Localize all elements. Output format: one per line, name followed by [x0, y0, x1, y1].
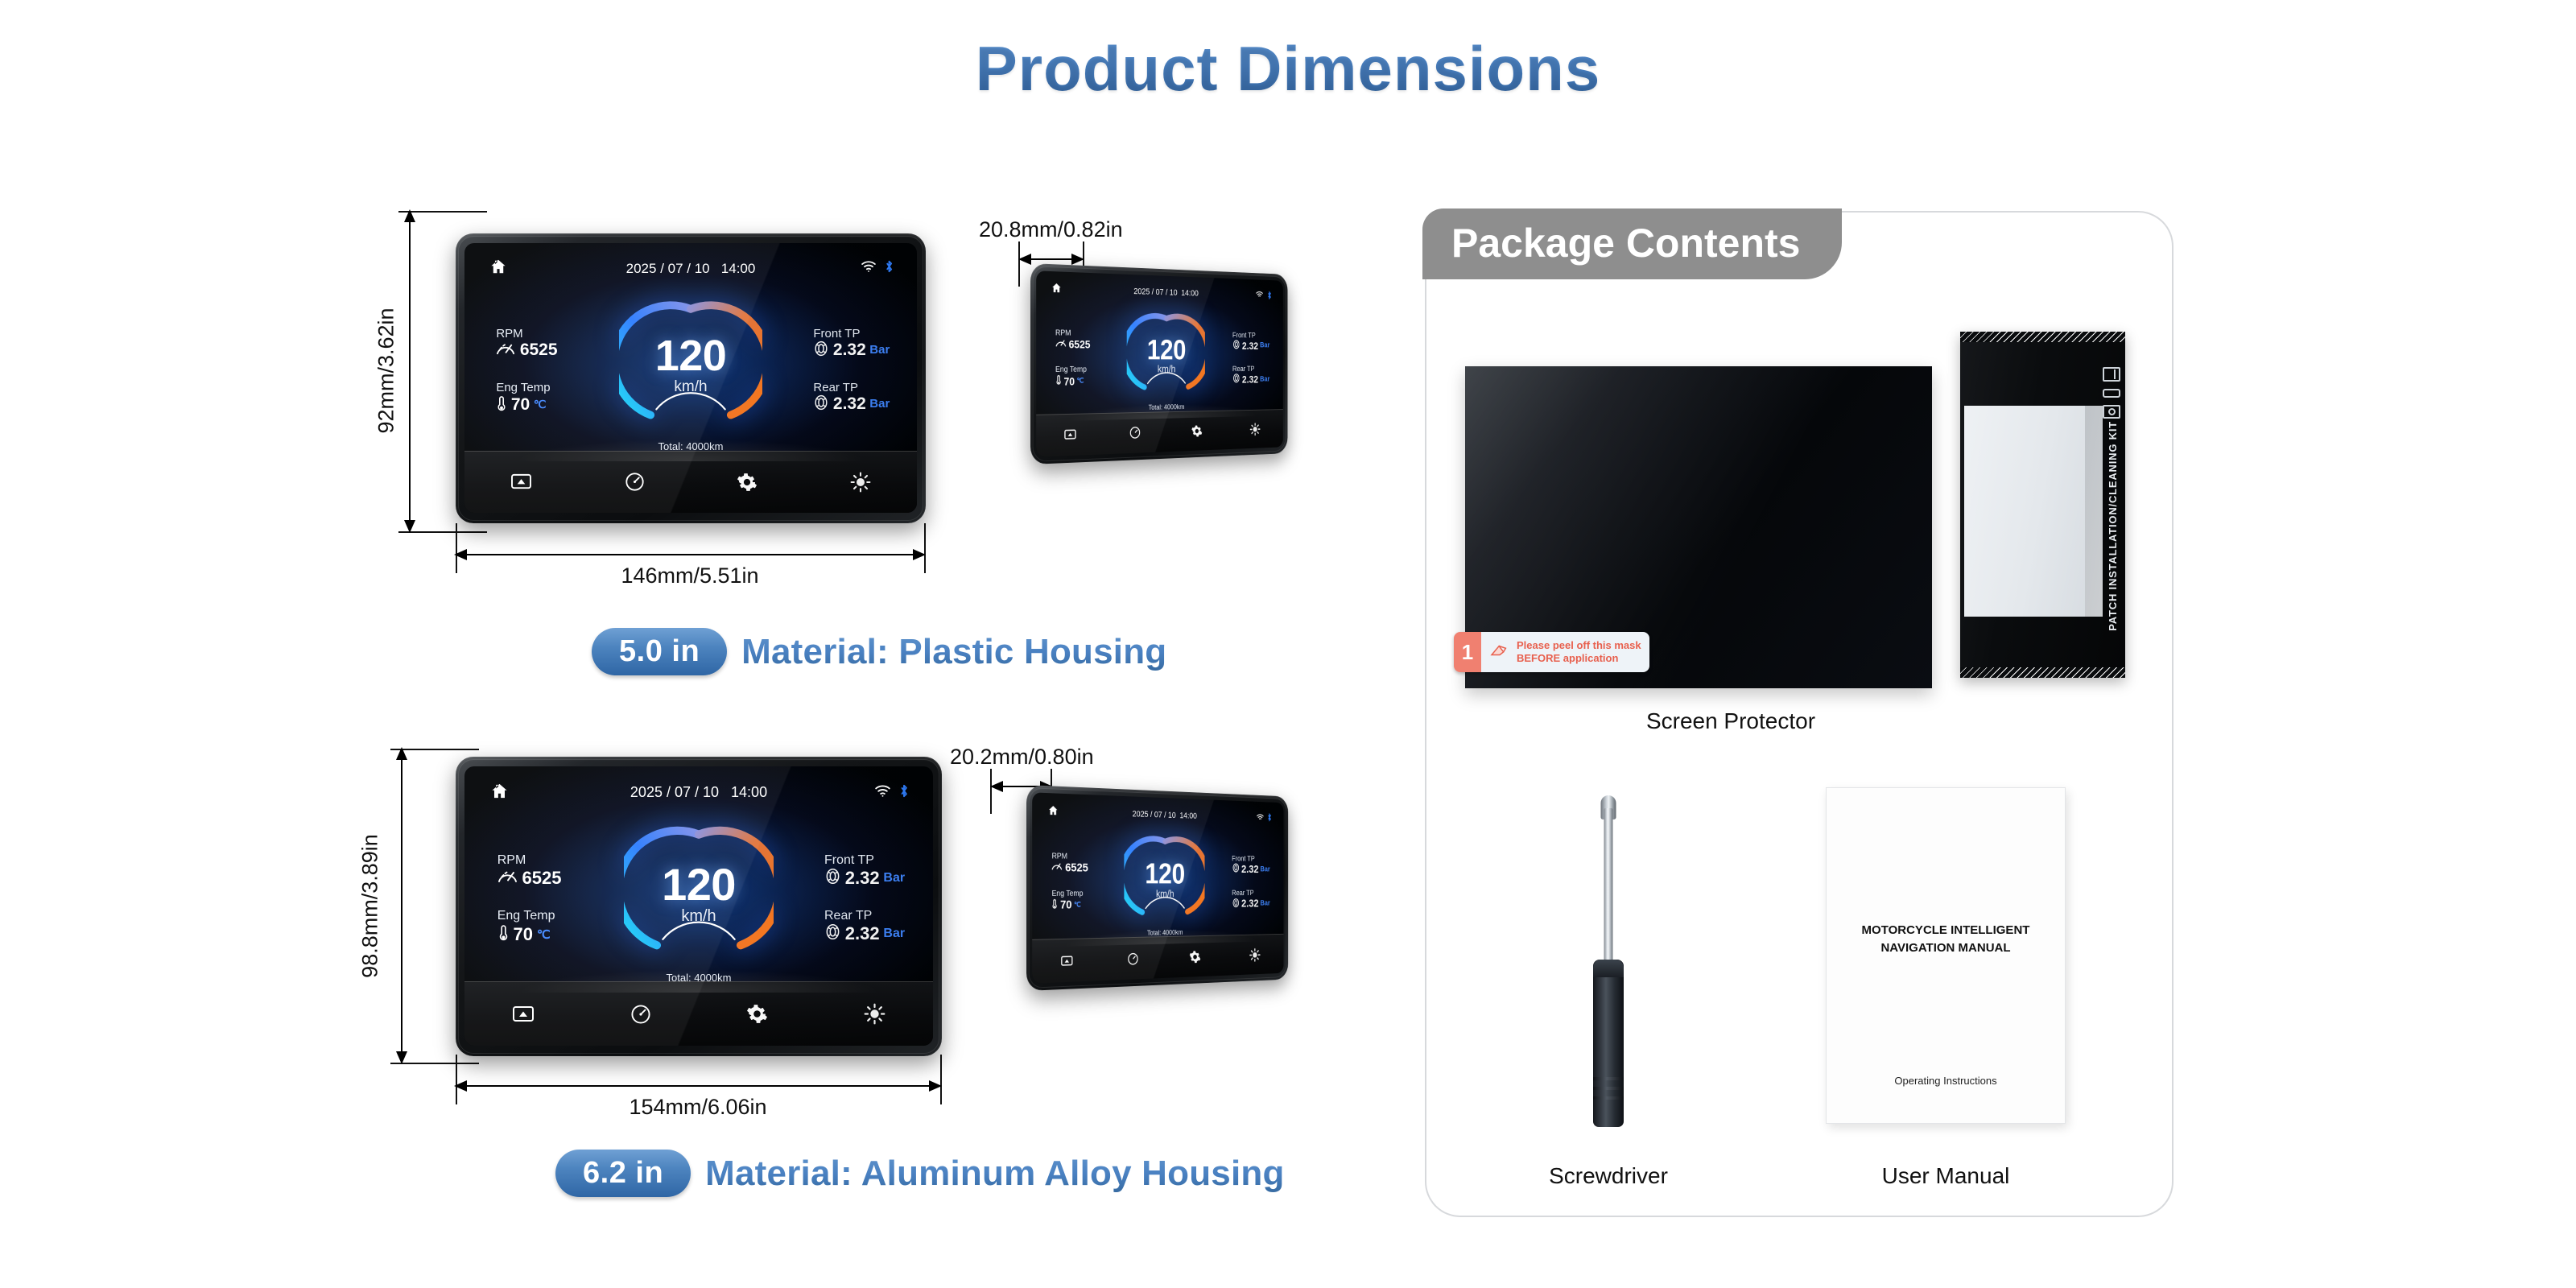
device-screen-5in[interactable]: 2025 / 07 / 10 14:00	[464, 243, 917, 513]
stat-rpm-label: RPM	[1055, 328, 1090, 337]
speed-unit: km/h	[1156, 888, 1174, 899]
tire-icon	[1232, 863, 1240, 875]
wifi-icon	[861, 260, 877, 277]
stat-rpm-value: 6525	[1065, 861, 1088, 874]
stat-rpm: RPM 6525	[1055, 328, 1090, 350]
status-datetime: 2025 / 07 / 10 14:00	[626, 261, 756, 277]
stat-front-tp: Front TP 2.32 Bar	[1232, 855, 1270, 876]
status-bar: 2025 / 07 / 10 14:00	[464, 255, 917, 283]
material-label-6in: Material: Aluminum Alloy Housing	[705, 1154, 1284, 1194]
speed-unit: km/h	[681, 907, 716, 926]
stat-eng-temp-label: Eng Temp	[1052, 890, 1084, 898]
wipe-packet-icon	[2103, 367, 2120, 382]
gear-icon[interactable]	[737, 472, 758, 493]
status-datetime: 2025 / 07 / 10 14:00	[1133, 809, 1197, 820]
stat-rpm-label: RPM	[496, 327, 557, 341]
stat-rpm-value: 6525	[520, 341, 558, 360]
device-front-5in[interactable]: 2025 / 07 / 10 14:00	[456, 233, 926, 523]
gear-icon[interactable]	[746, 1003, 768, 1025]
caption-screen-protector: Screen Protector	[1513, 708, 1948, 734]
thermometer-icon	[496, 394, 507, 415]
speed-gauge: 120 km/h Total: 4000km	[619, 295, 762, 452]
stat-front-tp: Front TP 2.32 Bar	[1232, 332, 1269, 352]
caption-user-manual: User Manual	[1825, 1163, 2066, 1189]
cleaning-kit-label: PATCH INSTALLATION/CLEANING KIT	[2107, 421, 2119, 631]
brightness-icon[interactable]	[864, 1003, 885, 1025]
brightness-icon[interactable]	[1249, 423, 1260, 436]
stat-eng-temp-unit: ℃	[537, 927, 551, 942]
status-date: 2025 / 07 / 10	[1133, 809, 1176, 819]
package-contents-title: Package Contents	[1422, 208, 1842, 279]
speedometer-icon[interactable]	[625, 472, 645, 492]
stat-rpm-value: 6525	[522, 868, 562, 889]
dock-bar	[1032, 934, 1283, 984]
home-icon[interactable]	[1051, 282, 1062, 296]
brightness-icon[interactable]	[1249, 947, 1261, 962]
wifi-icon	[1257, 813, 1264, 824]
stat-rear-tp-label: Rear TP	[813, 381, 890, 394]
peel-number: 1	[1454, 632, 1481, 672]
peel-line2: BEFORE application	[1517, 652, 1618, 664]
stat-rpm-label: RPM	[1052, 852, 1088, 861]
stat-front-tp: Front TP 2.32 Bar	[824, 853, 905, 889]
screen-mirror-icon[interactable]	[512, 1005, 535, 1024]
status-datetime: 2025 / 07 / 10 14:00	[630, 784, 767, 801]
user-manual-booklet: MOTORCYCLE INTELLIGENT NAVIGATION MANUAL…	[1826, 787, 2066, 1124]
stat-eng-temp-unit: ℃	[534, 398, 547, 411]
screen-protector: 1 Please peel off this mask BEFORE appli…	[1465, 366, 1932, 688]
screen-mirror-icon[interactable]	[1060, 955, 1073, 967]
tire-icon	[1232, 898, 1240, 910]
manual-title-line2: NAVIGATION MANUAL	[1880, 941, 2010, 955]
speed-unit: km/h	[674, 378, 707, 396]
stat-rear-tp: Rear TP 2.32 Bar	[1232, 365, 1269, 386]
stat-eng-temp-unit: ℃	[1074, 901, 1081, 910]
stat-rpm-label: RPM	[497, 853, 562, 868]
stat-rear-tp-value: 2.32	[845, 923, 880, 944]
size-badge-5in: 5.0 in	[592, 628, 727, 675]
dim-height-6in-label: 98.8mm/3.89in	[358, 818, 383, 995]
status-date: 2025 / 07 / 10	[630, 784, 719, 800]
stat-rear-tp: Rear TP 2.32 Bar	[813, 381, 890, 414]
status-bar: 2025 / 07 / 10 14:00	[464, 779, 933, 807]
status-time: 14:00	[731, 784, 767, 800]
peel-line1: Please peel off this mask	[1517, 639, 1641, 651]
pouch-serration-bottom	[1960, 667, 2125, 678]
stat-rear-tp-label: Rear TP	[1232, 890, 1270, 898]
thermometer-icon	[1055, 374, 1062, 388]
stat-rpm: RPM 6525	[1052, 852, 1088, 874]
stat-rear-tp: Rear TP 2.32 Bar	[1232, 890, 1270, 910]
stat-eng-temp: Eng Temp 70 ℃	[1055, 365, 1087, 388]
status-time: 14:00	[1179, 811, 1196, 820]
brightness-icon[interactable]	[850, 472, 871, 493]
bluetooth-icon	[884, 259, 894, 278]
speed-value: 120	[655, 336, 726, 377]
speedometer-icon[interactable]	[1129, 426, 1141, 440]
stat-front-tp-label: Front TP	[1232, 855, 1270, 864]
stat-rpm-value: 6525	[1069, 337, 1091, 350]
wifi-icon	[874, 784, 891, 802]
stat-front-tp-unit: Bar	[1260, 341, 1269, 349]
wifi-icon	[1256, 291, 1263, 301]
cleaning-kit-pouch: PATCH INSTALLATION/CLEANING KIT	[1960, 332, 2125, 678]
bluetooth-icon	[1267, 813, 1272, 824]
speedometer-icon[interactable]	[630, 1004, 651, 1025]
tire-icon	[813, 394, 829, 414]
gear-icon[interactable]	[1189, 949, 1201, 964]
speed-value: 120	[1145, 861, 1184, 888]
dim-height-5in-label: 92mm/3.62in	[374, 291, 399, 452]
home-icon[interactable]	[489, 258, 507, 279]
stat-eng-temp-value: 70	[514, 924, 533, 945]
tachometer-icon	[496, 341, 516, 360]
tachometer-icon	[1052, 861, 1063, 874]
tachometer-icon	[497, 868, 518, 889]
stat-rear-tp-unit: Bar	[1260, 375, 1269, 383]
device-side-6in[interactable]: 2025 / 07 / 10 14:00 120 km/h	[1026, 785, 1288, 991]
dim-thickness-5in-label: 20.8mm/0.82in	[979, 217, 1123, 242]
dim-width-6in-label: 154mm/6.06in	[460, 1095, 935, 1120]
stat-eng-temp: Eng Temp 70 ℃	[1052, 890, 1084, 912]
stat-rear-tp: Rear TP 2.32 Bar	[824, 909, 905, 944]
stat-front-tp-label: Front TP	[813, 327, 890, 341]
manual-title-line1: MOTORCYCLE INTELLIGENT	[1862, 923, 2030, 937]
speedometer-icon[interactable]	[1127, 952, 1138, 966]
pouch-serration-top	[1960, 332, 2125, 342]
stat-front-tp-label: Front TP	[1232, 332, 1269, 341]
stat-rear-tp-unit: Bar	[869, 397, 890, 411]
gear-icon[interactable]	[1191, 424, 1203, 438]
wipe-sheet	[1964, 406, 2085, 617]
size-badge-6in: 6.2 in	[555, 1150, 691, 1197]
peel-hand-icon	[1489, 642, 1512, 663]
manual-subtitle: Operating Instructions	[1827, 1075, 2065, 1087]
status-datetime: 2025 / 07 / 10 14:00	[1133, 287, 1198, 299]
screen-mirror-icon[interactable]	[510, 473, 532, 491]
dim-thickness-6in-label: 20.2mm/0.80in	[950, 745, 1094, 770]
stat-eng-temp-label: Eng Temp	[497, 909, 555, 923]
stat-eng-temp: Eng Temp 70 ℃	[497, 909, 555, 946]
speed-value: 120	[662, 863, 736, 906]
stat-eng-temp-value: 70	[1064, 375, 1075, 388]
stat-front-tp-value: 2.32	[833, 341, 866, 360]
kit-icon-group	[2103, 367, 2120, 419]
speed-gauge: 120 km/h Total: 4000km	[624, 819, 774, 984]
page-title: Product Dimensions	[0, 32, 2576, 105]
screen-mirror-icon[interactable]	[1064, 429, 1077, 441]
speed-gauge: 120 km/h Total: 4000km	[1127, 308, 1205, 412]
screwdriver-handle	[1593, 960, 1624, 1127]
dock-bar	[464, 981, 933, 1046]
dim-width-5in-label: 146mm/5.51in	[460, 563, 919, 588]
device-front-6in[interactable]: 2025 / 07 / 10 14:00 120	[456, 757, 942, 1056]
stat-rear-tp-value: 2.32	[833, 394, 866, 414]
home-icon[interactable]	[1047, 804, 1058, 819]
tire-icon	[824, 868, 841, 889]
material-row-6in: 6.2 in Material: Aluminum Alloy Housing	[555, 1150, 1285, 1197]
material-row-5in: 5.0 in Material: Plastic Housing	[592, 628, 1166, 675]
status-date: 2025 / 07 / 10	[626, 261, 710, 276]
stat-front-tp-value: 2.32	[845, 868, 880, 889]
stat-front-tp-unit: Bar	[869, 343, 890, 357]
peel-tab: 1 Please peel off this mask BEFORE appli…	[1454, 632, 1649, 672]
stat-rear-tp-value: 2.32	[1241, 898, 1258, 910]
manual-title: MOTORCYCLE INTELLIGENT NAVIGATION MANUAL	[1827, 922, 2065, 957]
stat-eng-temp-value: 70	[1060, 898, 1071, 912]
device-screen-6in[interactable]: 2025 / 07 / 10 14:00 120	[464, 766, 933, 1046]
tachometer-icon	[1055, 337, 1067, 350]
speed-unit: km/h	[1158, 363, 1175, 374]
stat-eng-temp: Eng Temp 70 ℃	[496, 381, 550, 415]
stat-rear-tp-value: 2.32	[1242, 374, 1258, 386]
bluetooth-icon	[898, 783, 910, 803]
stat-front-tp-unit: Bar	[883, 871, 905, 885]
tire-icon	[1232, 374, 1241, 386]
dock-bar	[464, 451, 917, 513]
tire-icon	[824, 923, 841, 944]
stat-eng-temp-label: Eng Temp	[496, 381, 550, 394]
status-time: 14:00	[721, 261, 756, 276]
stat-front-tp-unit: Bar	[1261, 865, 1270, 873]
screwdriver-shaft	[1604, 808, 1613, 966]
stat-front-tp: Front TP 2.32 Bar	[813, 327, 890, 360]
stat-rpm: RPM 6525	[496, 327, 557, 360]
stat-rear-tp-unit: Bar	[1261, 900, 1270, 908]
stat-rear-tp-label: Rear TP	[1232, 365, 1269, 374]
stat-front-tp-value: 2.32	[1242, 340, 1258, 352]
speed-value: 120	[1147, 336, 1186, 363]
camera-icon	[2103, 405, 2120, 419]
status-date: 2025 / 07 / 10	[1133, 287, 1177, 298]
speed-gauge: 120 km/h Total: 4000km	[1124, 831, 1204, 937]
tire-icon	[813, 341, 829, 360]
caption-screwdriver: Screwdriver	[1488, 1163, 1729, 1189]
cloth-icon	[2103, 389, 2120, 398]
thermometer-icon	[1052, 898, 1059, 912]
thermometer-icon	[497, 923, 510, 946]
stat-rpm: RPM 6525	[497, 853, 562, 889]
material-label-5in: Material: Plastic Housing	[741, 632, 1166, 672]
bluetooth-icon	[1267, 291, 1273, 302]
tire-icon	[1232, 340, 1241, 352]
stat-eng-temp-label: Eng Temp	[1055, 365, 1087, 374]
stat-rear-tp-label: Rear TP	[824, 909, 905, 923]
dock-bar	[1036, 409, 1283, 457]
screwdriver	[1592, 789, 1624, 1135]
stat-eng-temp-unit: ℃	[1077, 377, 1084, 386]
stat-rear-tp-unit: Bar	[883, 927, 905, 941]
stat-front-tp-value: 2.32	[1241, 863, 1258, 876]
device-side-5in[interactable]: 2025 / 07 / 10 14:00 120 km/h	[1030, 263, 1288, 464]
status-time: 14:00	[1181, 289, 1198, 299]
home-icon[interactable]	[490, 782, 509, 804]
stat-front-tp-label: Front TP	[824, 853, 905, 868]
stat-eng-temp-value: 70	[511, 395, 530, 415]
